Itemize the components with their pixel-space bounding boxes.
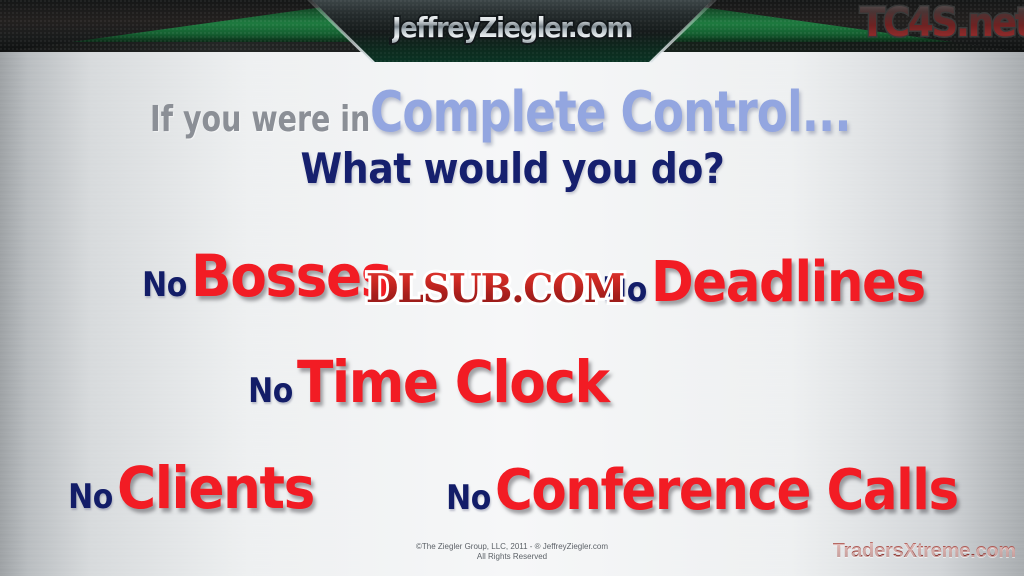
presentation-slide: JeffreyZiegler.com JeffreyZiegler.com TC… bbox=[0, 0, 1024, 576]
list-item-label: Deadlines bbox=[651, 250, 925, 315]
list-item: NoDeadlines bbox=[596, 250, 948, 315]
tc4s-badge-text: TC4S.net bbox=[860, 0, 1024, 46]
dlsub-watermark: DLSUB.COM DLSUB.COM bbox=[366, 266, 624, 312]
headline-prefix: If you were in bbox=[150, 99, 370, 140]
list-item-prefix: No bbox=[142, 265, 187, 305]
subheadline: What would you do? bbox=[0, 144, 1024, 193]
list-item-label: Bosses bbox=[191, 242, 391, 310]
site-logo-text: JeffreyZiegler.com bbox=[392, 11, 632, 44]
list-item-label: Time Clock bbox=[297, 348, 609, 416]
list-item-prefix: No bbox=[446, 478, 491, 518]
list-item: NoClients bbox=[62, 454, 331, 522]
dlsub-watermark-text: DLSUB.COM bbox=[366, 266, 624, 312]
tc4s-badge[interactable]: TC4S.net TC4S.net bbox=[860, 0, 1024, 46]
list-item-label: Conference Calls bbox=[495, 458, 958, 523]
list-item-prefix: No bbox=[68, 477, 113, 517]
list-item: NoTime Clock bbox=[242, 348, 635, 416]
list-item-label: Clients bbox=[117, 454, 314, 522]
headline-emphasis: Complete Control... bbox=[370, 80, 851, 145]
list-item-prefix: No bbox=[248, 371, 293, 411]
site-logo[interactable]: JeffreyZiegler.com JeffreyZiegler.com bbox=[392, 11, 632, 44]
subheadline-text: What would you do? bbox=[300, 144, 724, 193]
tradersxtreme-brand[interactable]: TradersXtreme.com bbox=[833, 540, 1016, 563]
headline: If you were in Complete Control... bbox=[0, 80, 1024, 145]
list-item: NoConference Calls bbox=[440, 458, 998, 523]
